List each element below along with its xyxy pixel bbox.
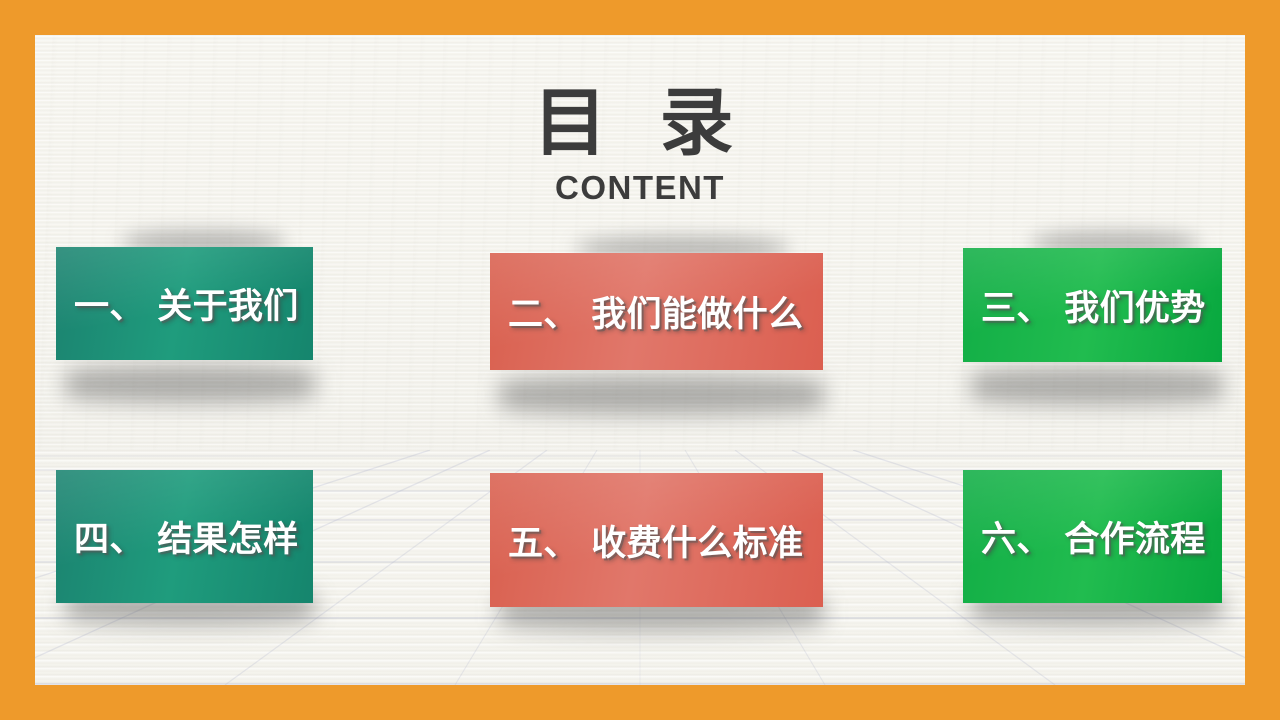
title-block: 目 录 CONTENT — [35, 85, 1245, 207]
menu-item-1-face: 一、 关于我们 — [56, 247, 313, 360]
menu-item-2-face: 二、 我们能做什么 — [490, 253, 823, 370]
card-shadow — [971, 367, 1223, 405]
menu-item-4-label: 四、 结果怎样 — [56, 511, 299, 562]
menu-item-6[interactable]: 六、 合作流程 — [963, 470, 1222, 603]
card-shadow — [65, 365, 315, 403]
menu-item-2-label: 二、 我们能做什么 — [490, 286, 803, 337]
menu-item-5-face: 五、 收费什么标准 — [490, 473, 823, 607]
menu-item-6-face: 六、 合作流程 — [963, 470, 1222, 603]
menu-item-3-label: 三、 我们优势 — [963, 280, 1206, 331]
slide-canvas: 目 录 CONTENT 一、 关于我们 二、 我们能做什么 — [0, 0, 1280, 720]
menu-item-2[interactable]: 二、 我们能做什么 — [490, 253, 823, 370]
menu-item-3-face: 三、 我们优势 — [963, 248, 1222, 362]
menu-item-4[interactable]: 四、 结果怎样 — [56, 470, 313, 603]
card-shadow — [499, 375, 824, 415]
page-subtitle: CONTENT — [35, 169, 1245, 207]
menu-item-1-label: 一、 关于我们 — [56, 278, 299, 329]
page-title: 目 录 — [35, 85, 1245, 163]
slide-stage: 目 录 CONTENT 一、 关于我们 二、 我们能做什么 — [35, 35, 1245, 685]
menu-item-1[interactable]: 一、 关于我们 — [56, 247, 313, 360]
menu-item-4-face: 四、 结果怎样 — [56, 470, 313, 603]
menu-item-5[interactable]: 五、 收费什么标准 — [490, 473, 823, 607]
menu-item-6-label: 六、 合作流程 — [963, 511, 1206, 562]
menu-item-3[interactable]: 三、 我们优势 — [963, 248, 1222, 362]
menu-item-5-label: 五、 收费什么标准 — [490, 515, 803, 566]
